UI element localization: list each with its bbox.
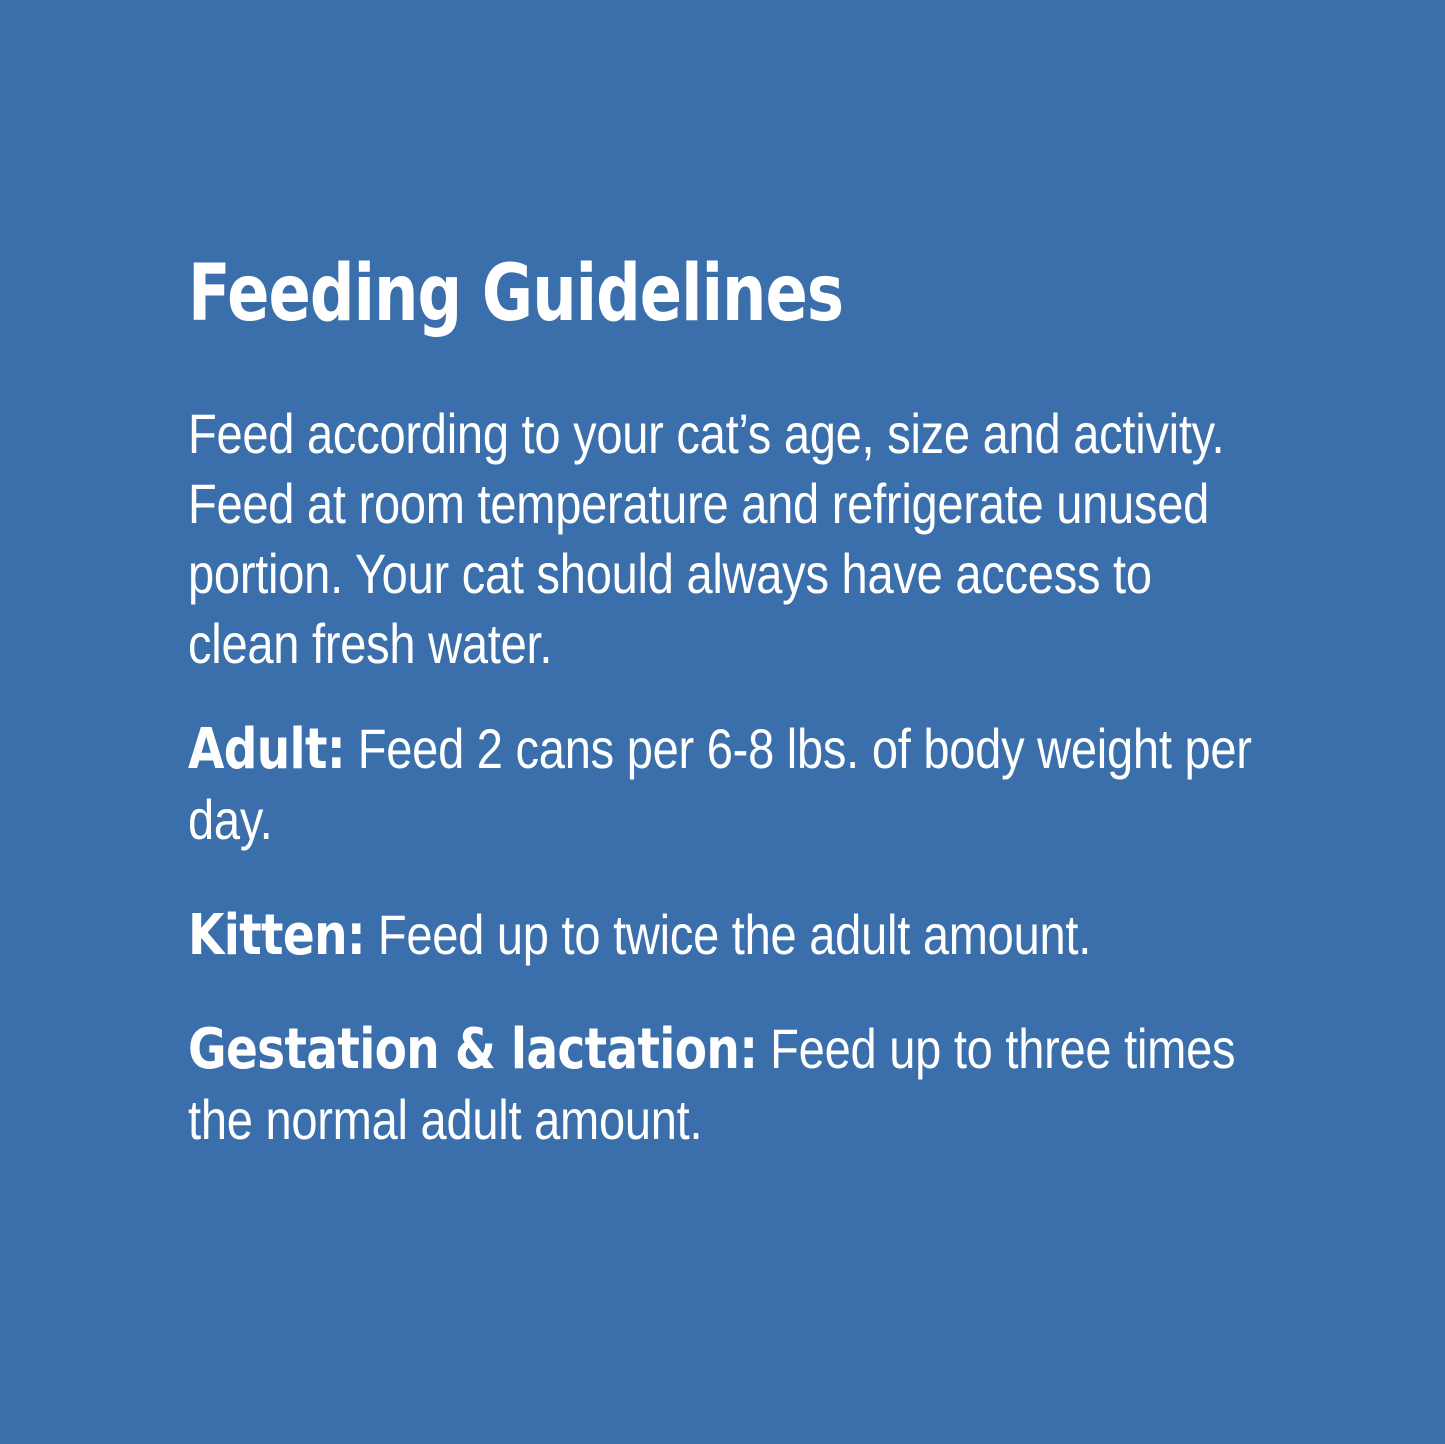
guideline-label-gestation: Gestation & lactation: <box>188 1017 757 1082</box>
guideline-row-adult: Adult: Feed 2 cans per 6-8 lbs. of body … <box>188 714 1272 855</box>
guideline-label-adult: Adult: <box>188 717 345 782</box>
panel-content: Feeding Guidelines Feed according to you… <box>188 255 1273 333</box>
feeding-guidelines-panel: Feeding Guidelines Feed according to you… <box>0 0 1445 1444</box>
intro-paragraph: Feed according to your cat’s age, size a… <box>188 399 1272 679</box>
guideline-label-kitten: Kitten: <box>188 903 365 968</box>
guideline-row-kitten: Kitten: Feed up to twice the adult amoun… <box>188 900 1272 971</box>
guideline-row-gestation: Gestation & lactation: Feed up to three … <box>188 1014 1272 1155</box>
page-title: Feeding Guidelines <box>188 255 1056 333</box>
guideline-text-adult: Feed 2 cans per 6-8 lbs. of body weight … <box>188 717 1252 851</box>
guideline-text-kitten: Feed up to twice the adult amount. <box>365 903 1091 966</box>
